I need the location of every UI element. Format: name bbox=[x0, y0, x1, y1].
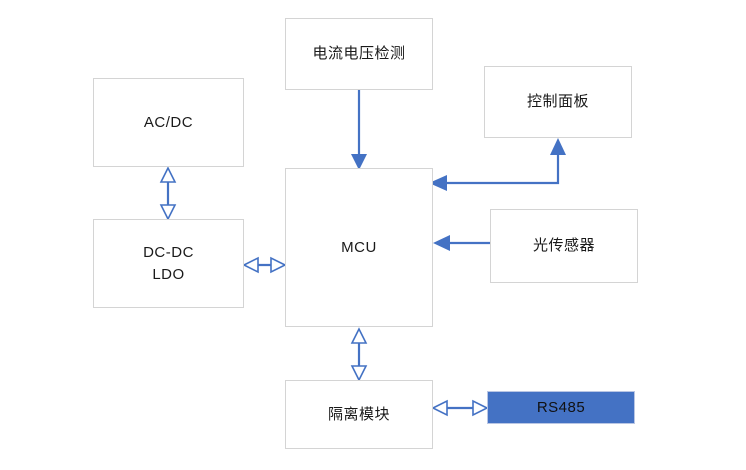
node-rs485-label: RS485 bbox=[537, 397, 585, 419]
diagram-canvas: AC/DC DC-DC LDO 电流电压检测 MCU 控制面板 光传感器 隔离模… bbox=[0, 0, 746, 470]
connector-isolate-rs485 bbox=[433, 401, 487, 415]
node-light-sensor[interactable]: 光传感器 bbox=[490, 209, 638, 283]
node-dcdc-ldo[interactable]: DC-DC LDO bbox=[93, 219, 244, 308]
node-acdc-label: AC/DC bbox=[144, 112, 193, 134]
node-control-panel[interactable]: 控制面板 bbox=[484, 66, 632, 138]
node-mcu-label: MCU bbox=[341, 237, 377, 259]
node-isolation-module[interactable]: 隔离模块 bbox=[285, 380, 433, 449]
node-control-panel-label: 控制面板 bbox=[527, 91, 589, 113]
connector-acdc-dcdc bbox=[161, 168, 175, 219]
connector-mcu-isolate bbox=[352, 329, 366, 380]
connector-dcdc-mcu bbox=[244, 258, 285, 272]
node-mcu[interactable]: MCU bbox=[285, 168, 433, 327]
node-rs485[interactable]: RS485 bbox=[487, 391, 635, 424]
node-current-voltage-detection-label: 电流电压检测 bbox=[312, 43, 405, 65]
node-current-voltage-detection[interactable]: 电流电压检测 bbox=[285, 18, 433, 90]
node-isolation-module-label: 隔离模块 bbox=[328, 404, 390, 426]
node-dcdc-ldo-label: DC-DC LDO bbox=[143, 242, 194, 286]
node-acdc[interactable]: AC/DC bbox=[93, 78, 244, 167]
node-light-sensor-label: 光传感器 bbox=[533, 235, 595, 257]
connector-mcu-panel bbox=[429, 138, 566, 191]
connector-light-to-mcu bbox=[433, 235, 490, 251]
connector-sense-to-mcu bbox=[351, 90, 367, 170]
